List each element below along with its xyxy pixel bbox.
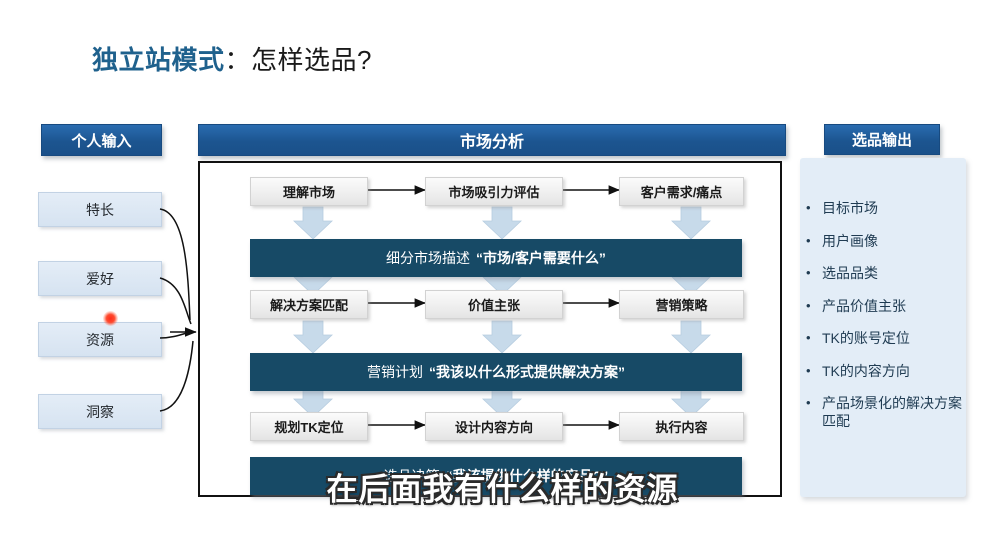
connector-insight xyxy=(160,341,193,411)
input-box-insight[interactable]: 洞察 xyxy=(38,394,162,429)
flow-box-understand-market[interactable]: 理解市场 xyxy=(250,177,368,206)
center-panel-header: 市场分析 xyxy=(198,124,786,156)
flow-box-value-proposition[interactable]: 价值主张 xyxy=(425,290,563,319)
right-panel-header: 选品输出 xyxy=(824,124,940,155)
flow-box-plan-tk-position[interactable]: 规划TK定位 xyxy=(250,412,368,441)
output-item-user-persona: 用户画像 xyxy=(822,233,964,251)
output-item-target-market: 目标市场 xyxy=(822,200,964,218)
list-item: • 用户画像 xyxy=(806,233,964,251)
page-title-rest: ：怎样选品? xyxy=(225,45,372,75)
output-item-value-proposition: 产品价值主张 xyxy=(822,298,964,316)
bullet-icon: • xyxy=(806,395,822,411)
bullet-icon: • xyxy=(806,298,822,314)
list-item: • 目标市场 xyxy=(806,200,964,218)
output-item-scenario-solution-match: 产品场景化的解决方案匹配 xyxy=(822,395,964,430)
market-analysis-flowchart: 理解市场 市场吸引力评估 客户需求/痛点 细分市场描述“市场/客户需要什么” 解… xyxy=(198,161,782,497)
page-title-highlight: 独立站模式 xyxy=(92,45,225,75)
flow-bar-segment-description: 细分市场描述“市场/客户需要什么” xyxy=(250,239,742,277)
flow-arrows xyxy=(200,163,784,499)
flow-bar-marketing-plan: 营销计划“我该以什么形式提供解决方案” xyxy=(250,353,742,391)
left-panel-header: 个人输入 xyxy=(41,124,162,156)
list-item: • 选品品类 xyxy=(806,265,964,283)
output-item-tk-content-direction: TK的内容方向 xyxy=(822,363,964,381)
flow-box-solution-match[interactable]: 解决方案匹配 xyxy=(250,290,368,319)
flow-bar1-lead: 细分市场描述 xyxy=(386,248,470,268)
list-item: • 产品价值主张 xyxy=(806,298,964,316)
list-item: • TK的内容方向 xyxy=(806,363,964,381)
input-box-specialty[interactable]: 特长 xyxy=(38,192,162,227)
flow-bar1-quote: “市场/客户需要什么” xyxy=(476,248,606,268)
connector-hobby xyxy=(160,278,191,324)
output-item-tk-account-position: TK的账号定位 xyxy=(822,330,964,348)
cursor-click-indicator xyxy=(103,311,118,326)
flow-box-marketing-strategy[interactable]: 营销策略 xyxy=(619,290,744,319)
output-item-product-category: 选品品类 xyxy=(822,265,964,283)
input-box-resource[interactable]: 资源 xyxy=(38,322,162,357)
bullet-icon: • xyxy=(806,363,822,379)
flow-box-execute-content[interactable]: 执行内容 xyxy=(619,412,744,441)
flow-box-design-content[interactable]: 设计内容方向 xyxy=(425,412,563,441)
bullet-icon: • xyxy=(806,200,822,216)
connector-resource xyxy=(160,332,190,338)
bullet-icon: • xyxy=(806,330,822,346)
bullet-icon: • xyxy=(806,233,822,249)
flow-bar2-lead: 营销计划 xyxy=(367,362,423,382)
video-subtitle-overlay: 在后面我有什么样的资源 xyxy=(0,464,1005,509)
bullet-icon: • xyxy=(806,265,822,281)
page-title: 独立站模式：怎样选品? xyxy=(92,40,372,77)
flow-bar2-quote: “我该以什么形式提供解决方案” xyxy=(429,362,625,382)
list-item: • 产品场景化的解决方案匹配 xyxy=(806,395,964,430)
output-list: • 目标市场 • 用户画像 • 选品品类 • 产品价值主张 • TK的账号定位 … xyxy=(806,200,964,445)
flow-box-customer-needs[interactable]: 客户需求/痛点 xyxy=(619,177,744,206)
input-box-hobby[interactable]: 爱好 xyxy=(38,261,162,296)
flow-box-market-attractiveness[interactable]: 市场吸引力评估 xyxy=(425,177,563,206)
connector-specialty xyxy=(160,209,190,320)
list-item: • TK的账号定位 xyxy=(806,330,964,348)
slide-canvas: 独立站模式：怎样选品? 个人输入 特长 爱好 资源 洞察 市场分析 xyxy=(0,0,1005,556)
